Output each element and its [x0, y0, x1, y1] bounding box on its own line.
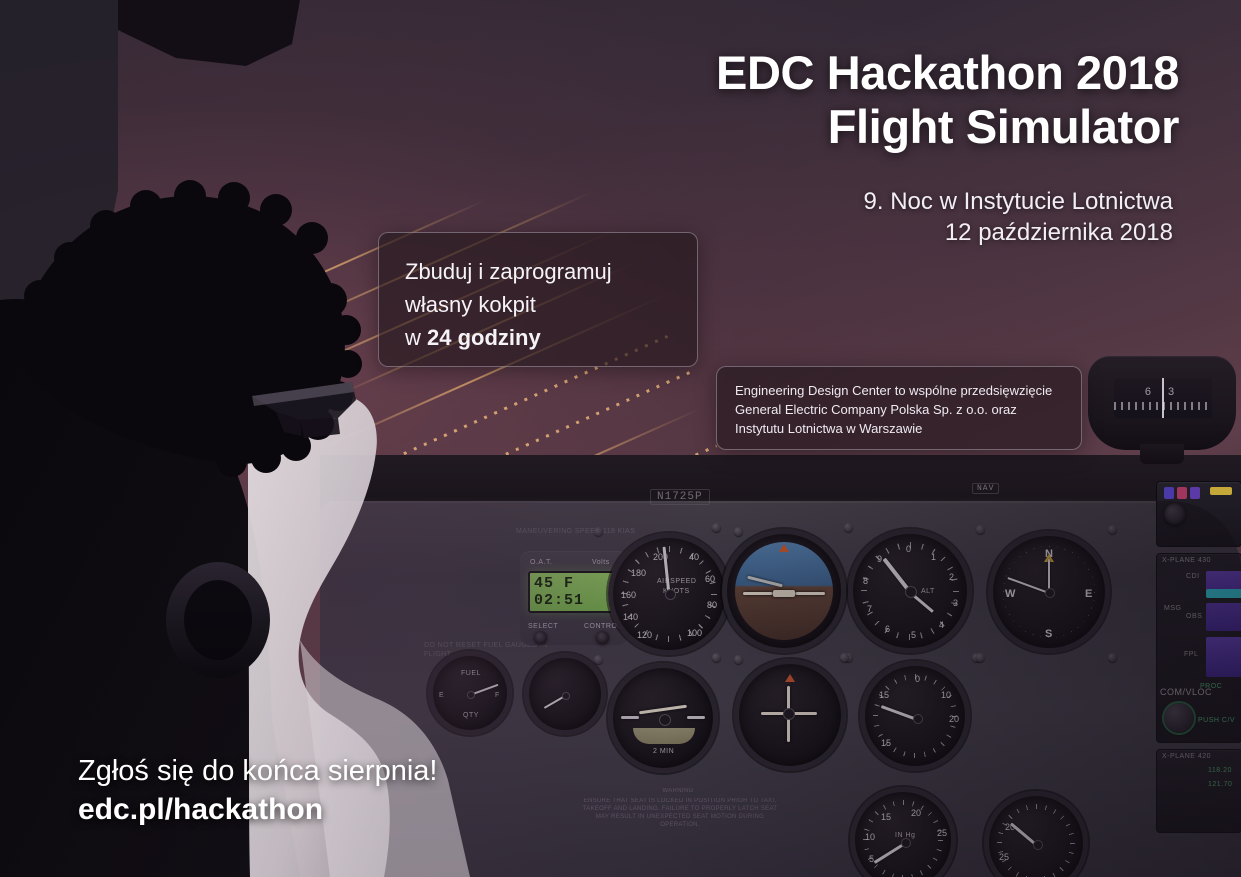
gps-button-msg[interactable]: MSG — [1164, 605, 1181, 612]
freq-active: 118.20 — [1208, 767, 1232, 774]
sunglasses — [252, 382, 356, 438]
callout-line-3-prefix: w — [405, 325, 427, 350]
gps-active-freq-highlight — [1206, 589, 1241, 598]
engine-gauge-cluster — [524, 653, 606, 735]
nav-annunciator: NAV — [972, 483, 999, 494]
directional-gyro — [734, 659, 846, 771]
lcd-display: 45 F 02:51 — [528, 571, 620, 613]
audio-panel-knob[interactable] — [1164, 503, 1186, 525]
push-cv-label: PUSH C/V — [1198, 717, 1235, 724]
nav-comm-unit[interactable] — [1156, 749, 1241, 833]
gps-button-obs[interactable]: OBS — [1186, 613, 1202, 620]
lcd-control-knob[interactable] — [596, 631, 609, 644]
page-title: EDC Hackathon 2018 Flight Simulator — [716, 46, 1179, 154]
gps-button-fpl[interactable]: FPL — [1184, 651, 1198, 658]
about-edc-box: Engineering Design Center to wspólne prz… — [716, 366, 1082, 450]
turn-coordinator-label: 2 MIN — [653, 748, 674, 755]
gps-button-cdi[interactable]: CDI — [1186, 573, 1200, 580]
subtitle-line-2: 12 października 2018 — [864, 217, 1173, 248]
about-line-3: Instytutu Lotnictwa w Warszawie — [735, 419, 1063, 438]
callout-line-1: Zbuduj i zaprogramuj — [405, 255, 671, 288]
callout-line-3-bold: 24 godziny — [427, 325, 541, 350]
oat-label: O.A.T. — [530, 559, 552, 566]
airspeed-indicator: 200 180 160 140 120 40 60 80 100 AIRSPEE… — [608, 533, 730, 655]
headset-ear-cup — [166, 562, 270, 678]
freq-standby: 121.70 — [1208, 781, 1232, 788]
turn-coordinator: 2 MIN — [608, 663, 718, 773]
about-line-2: General Electric Company Polska Sp. z o.… — [735, 400, 1063, 419]
title-line-2: Flight Simulator — [716, 100, 1179, 154]
callout-line-2: własny kokpit — [405, 288, 671, 321]
lcd-select-label: SELECT — [528, 623, 558, 630]
compass-window: 6 3 — [1114, 378, 1212, 418]
altimeter: 0 1 2 3 4 5 6 7 8 9 ALT — [848, 529, 972, 653]
event-subtitle: 9. Noc w Instytucie Lotnictwa 12 paździe… — [864, 186, 1173, 248]
com-vloc-knob[interactable] — [1164, 703, 1194, 733]
fuel-quantity-gauge: FUEL E F QTY — [428, 651, 512, 735]
poster-canvas: N1725P Maneuvering speed 118 KIAS Do not… — [0, 0, 1241, 877]
overhead-shadow — [118, 0, 300, 66]
volts-label: Volts — [592, 559, 610, 566]
challenge-callout-box: Zbuduj i zaprogramuj własny kokpit w 24 … — [378, 232, 698, 367]
nav-unit-label: X-PLANE 420 — [1162, 753, 1211, 760]
cta-headline: Zgłoś się do końca sierpnia! — [78, 752, 437, 790]
com-vloc-label: COM/VLOC — [1160, 687, 1212, 697]
gps-screen-mid — [1206, 603, 1241, 631]
gps-unit-label: X-PLANE 430 — [1162, 557, 1211, 564]
call-to-action: Zgłoś się do końca sierpnia! edc.pl/hack… — [78, 752, 437, 830]
pilot-hair-curls — [24, 180, 362, 477]
cabin-post — [0, 0, 118, 330]
lcd-timer: 02:51 — [534, 592, 614, 609]
pilot-hair — [19, 196, 345, 464]
warning-placard-title: WARNING — [588, 787, 768, 795]
gps-screen-bottom — [1206, 637, 1241, 677]
subtitle-line-1: 9. Noc w Instytucie Lotnictwa — [864, 186, 1173, 217]
magnetic-compass-pod: 6 3 — [1088, 352, 1240, 470]
vertical-speed-indicator: 15 15 10 20 0 — [860, 661, 970, 771]
compass-lubber-line — [1162, 378, 1164, 418]
lcd-select-knob[interactable] — [534, 631, 547, 644]
title-line-1: EDC Hackathon 2018 — [716, 46, 1179, 100]
heading-indicator: N E S W — [988, 531, 1110, 653]
altimeter-alt-label: ALT — [921, 588, 935, 595]
warning-placard-body: Ensure that seat is locked in position p… — [582, 797, 778, 829]
lcd-temperature: 45 F — [534, 575, 614, 592]
headset-ear-pad — [184, 580, 252, 660]
cockpit-instrument-panel: N1725P Maneuvering speed 118 KIAS Do not… — [320, 455, 1241, 877]
callout-line-3: w 24 godziny — [405, 321, 671, 354]
cta-url[interactable]: edc.pl/hackathon — [78, 790, 437, 830]
about-line-1: Engineering Design Center to wspólne prz… — [735, 381, 1063, 400]
stencil-airspeed-note: Maneuvering speed 118 KIAS — [516, 527, 666, 536]
tail-number-placard: N1725P — [650, 489, 710, 505]
attitude-indicator — [722, 529, 846, 653]
